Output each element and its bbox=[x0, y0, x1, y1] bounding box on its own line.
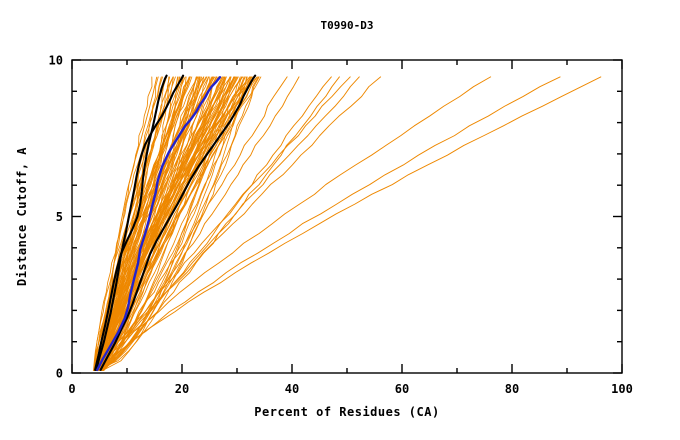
y-axis-title: Distance Cutoff, A bbox=[15, 147, 29, 286]
page-title: T0990-D3 bbox=[321, 19, 374, 32]
x-tick-label: 0 bbox=[68, 382, 75, 396]
x-tick-label: 20 bbox=[175, 382, 189, 396]
y-tick-label: 10 bbox=[49, 54, 63, 68]
x-tick-label: 60 bbox=[395, 382, 409, 396]
x-tick-label: 100 bbox=[611, 382, 633, 396]
y-tick-label: 5 bbox=[56, 210, 63, 224]
figure-background bbox=[0, 0, 680, 440]
y-tick-label: 0 bbox=[56, 367, 63, 381]
chart-canvas: 0204060801000510T0990-D3Percent of Resid… bbox=[0, 0, 680, 440]
figure-container: 0204060801000510T0990-D3Percent of Resid… bbox=[0, 0, 680, 440]
x-axis-title: Percent of Residues (CA) bbox=[254, 405, 439, 419]
x-tick-label: 80 bbox=[505, 382, 519, 396]
x-tick-label: 40 bbox=[285, 382, 299, 396]
